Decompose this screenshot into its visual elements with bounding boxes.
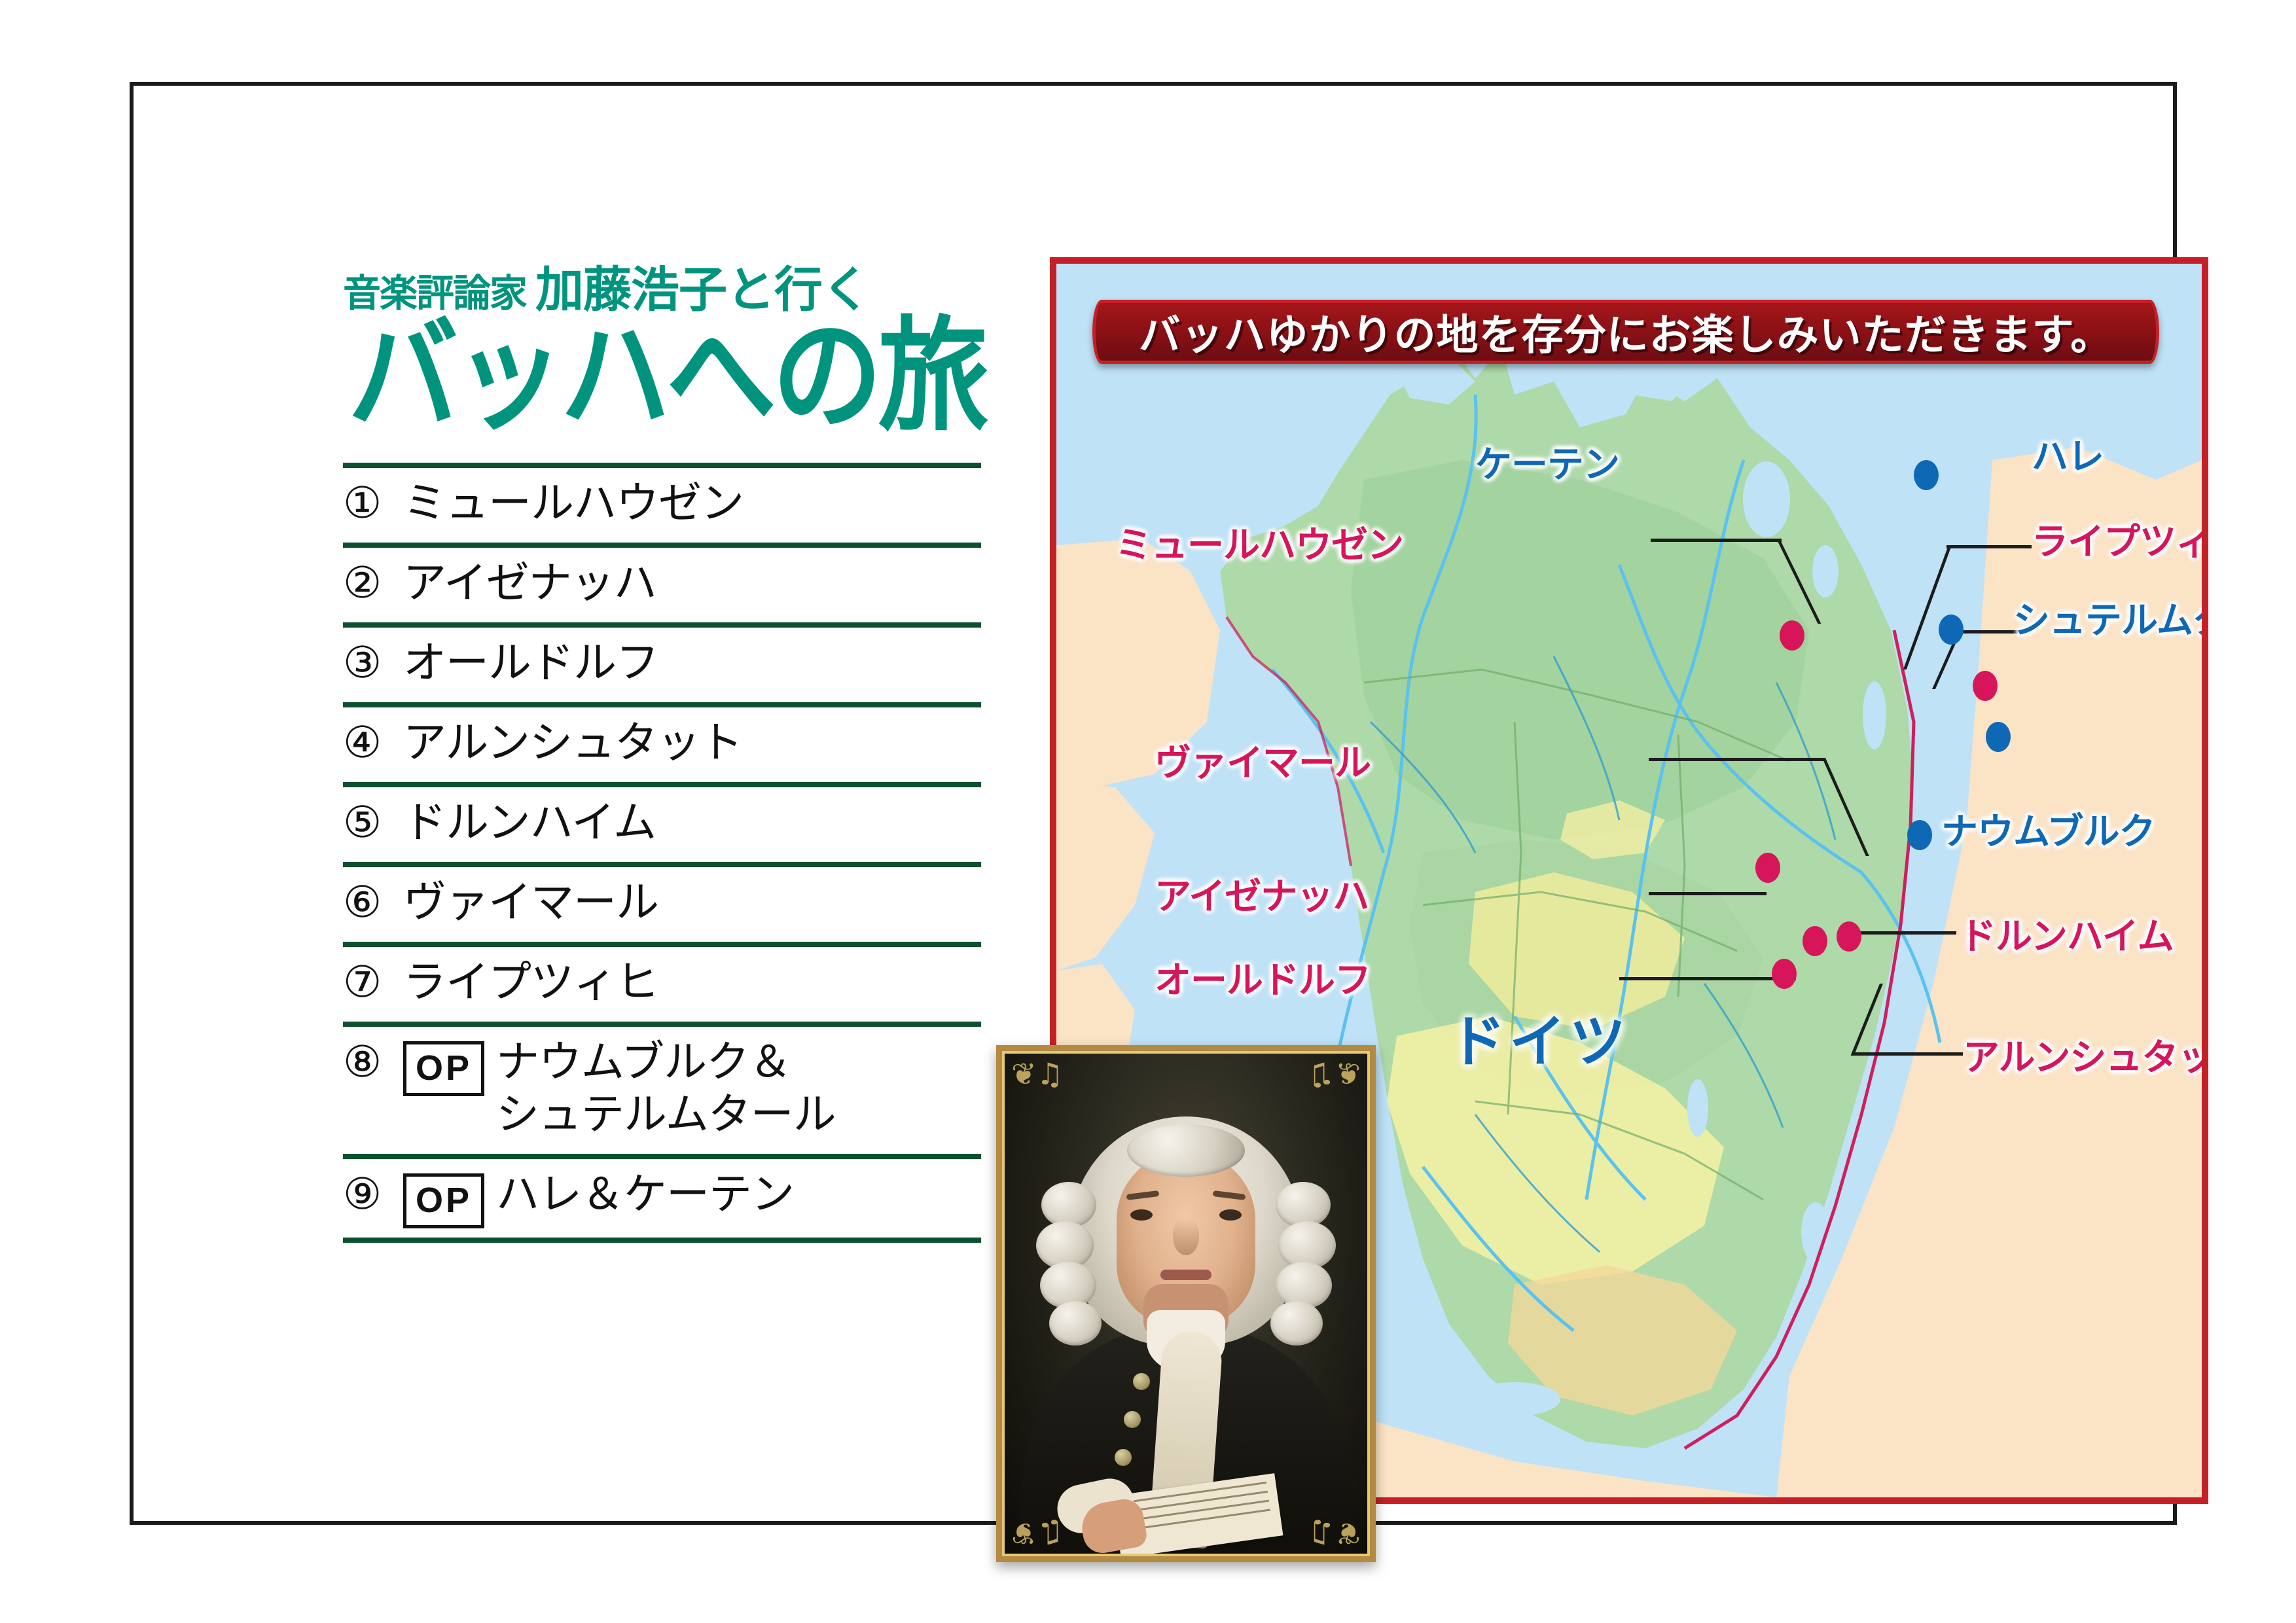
- itinerary-divider: [343, 1022, 981, 1027]
- itinerary-item-9[interactable]: ⑨OPハレ＆ケーテン: [343, 1159, 981, 1238]
- bach-eye-right: [1219, 1209, 1242, 1221]
- map-label-halle: ハレ: [2032, 427, 2104, 480]
- itinerary-item-number: ⑨: [343, 1168, 403, 1221]
- itinerary-item-label: オールドルフ: [403, 637, 658, 688]
- itinerary-item-label: ヴァイマール: [403, 876, 658, 928]
- optional-tour-badge: OP: [403, 1041, 484, 1096]
- city-dot-weimar[interactable]: [1755, 853, 1780, 883]
- city-dot-dornheim[interactable]: [1837, 921, 1861, 952]
- itinerary-list: ①ミュールハウゼン②アイゼナッハ③オールドルフ④アルンシュタット⑤ドルンハイム⑥…: [343, 463, 981, 1243]
- leader-line-ohrdruf-h: [1619, 977, 1796, 980]
- map-label-ohrdruf: オールドルフ: [1155, 951, 1371, 1004]
- itinerary-item-number: ③: [343, 637, 403, 690]
- itinerary-item-5[interactable]: ⑤ドルンハイム: [343, 787, 981, 862]
- page-border-frame: 音楽評論家加藤浩子と行く バッハへの旅 ①ミュールハウゼン②アイゼナッハ③オール…: [130, 82, 2177, 1525]
- coat-button-1: [1133, 1373, 1150, 1390]
- itinerary-divider: [343, 942, 981, 947]
- bach-painting: [1005, 1054, 1367, 1554]
- itinerary-item-number: ⑧: [343, 1036, 403, 1089]
- map-label-leipzig: ライプツィヒ: [2032, 512, 2208, 565]
- coat-button-2: [1124, 1411, 1141, 1428]
- score-staff-line: [1126, 1509, 1270, 1531]
- itinerary-item-number: ②: [343, 557, 403, 610]
- itinerary-item-number: ④: [343, 717, 403, 770]
- leader-line-arnstadt-h: [1852, 1052, 1963, 1056]
- map-banner-text: バッハゆかりの地を存分にお楽しみいただきます。: [1139, 302, 2113, 362]
- wig-curl-left-4: [1049, 1301, 1102, 1346]
- itinerary-divider: [343, 622, 981, 628]
- city-dot-leipzig[interactable]: [1973, 671, 1998, 701]
- itinerary-item-number: ⑥: [343, 876, 403, 929]
- itinerary-item-1[interactable]: ①ミュールハウゼン: [343, 468, 981, 543]
- city-dot-kothen[interactable]: [1914, 460, 1939, 490]
- map-label-weimar: ヴァイマール: [1155, 734, 1371, 787]
- corner-flourish-icon: ❦♫: [1290, 1491, 1361, 1548]
- itinerary-item-label: ハレ＆ケーテン: [496, 1168, 794, 1220]
- portrait-inner-frame: ❦♫ ❦♫ ❦♫ ❦♫: [1002, 1051, 1370, 1556]
- itinerary-item-8[interactable]: ⑧OPナウムブルク＆ シュテルムタール: [343, 1027, 981, 1154]
- city-dot-muhlhausen[interactable]: [1780, 620, 1804, 651]
- city-dot-naumburg[interactable]: [1907, 820, 1932, 850]
- corner-flourish-icon: ❦♫: [1011, 1059, 1082, 1116]
- bach-portrait: ❦♫ ❦♫ ❦♫ ❦♫: [996, 1045, 1376, 1562]
- leader-line-halle-h: [1946, 545, 2032, 548]
- leader-line-weimar-h: [1649, 758, 1825, 761]
- itinerary-item-6[interactable]: ⑥ヴァイマール: [343, 867, 981, 942]
- page-title: バッハへの旅: [348, 313, 997, 438]
- wig-top-roll: [1127, 1124, 1245, 1177]
- itinerary-item-label: アイゼナッハ: [403, 557, 656, 609]
- leader-line-eisenach-h: [1649, 892, 1767, 895]
- itinerary-divider: [343, 702, 981, 707]
- itinerary-divider: [343, 1154, 981, 1159]
- map-label-eisenach: アイゼナッハ: [1155, 867, 1369, 920]
- map-label-stormthal: シュテルムタール: [2013, 591, 2208, 644]
- map-label-dornheim: ドルンハイム: [1960, 907, 2174, 960]
- leader-line-muhlhausen-h: [1651, 539, 1782, 542]
- city-dot-ohrdruf[interactable]: [1772, 959, 1797, 989]
- title-block: 音楽評論家加藤浩子と行く バッハへの旅: [343, 266, 997, 425]
- itinerary-divider: [343, 543, 981, 548]
- itinerary-item-number: ①: [343, 477, 403, 530]
- itinerary-divider: [343, 782, 981, 787]
- itinerary-item-2[interactable]: ②アイゼナッハ: [343, 548, 981, 622]
- map-banner: バッハゆかりの地を存分にお楽しみいただきます。: [1092, 300, 2159, 364]
- itinerary-item-label: アルンシュタット: [403, 717, 742, 768]
- itinerary-item-label: ミュールハウゼン: [403, 477, 744, 529]
- bach-eye-left: [1130, 1209, 1153, 1221]
- itinerary-item-number: ⑦: [343, 956, 403, 1009]
- itinerary-item-label: ライプツィヒ: [403, 956, 658, 1008]
- itinerary-divider: [343, 862, 981, 867]
- map-label-naumburg: ナウムブルク: [1941, 802, 2155, 855]
- map-label-arnstadt: アルンシュタット: [1963, 1028, 2208, 1081]
- optional-tour-badge: OP: [403, 1173, 484, 1228]
- bach-nose: [1173, 1219, 1199, 1255]
- left-column: 音楽評論家加藤浩子と行く バッハへの旅 ①ミュールハウゼン②アイゼナッハ③オール…: [343, 266, 997, 1243]
- itinerary-item-number: ⑤: [343, 796, 403, 849]
- city-dot-stormthal[interactable]: [1986, 722, 2011, 752]
- itinerary-item-3[interactable]: ③オールドルフ: [343, 628, 981, 702]
- leader-line-dornheim-h: [1845, 931, 1956, 935]
- itinerary-item-label: ナウムブルク＆ シュテルムタール: [496, 1036, 836, 1139]
- itinerary-divider: [343, 1238, 981, 1243]
- corner-flourish-icon: ❦♫: [1290, 1059, 1361, 1116]
- city-dot-halle[interactable]: [1939, 615, 1964, 645]
- map-label-kothen: ケーテン: [1475, 435, 1619, 488]
- bach-mouth: [1160, 1270, 1211, 1280]
- itinerary-item-7[interactable]: ⑦ライプツィヒ: [343, 947, 981, 1022]
- itinerary-item-4[interactable]: ④アルンシュタット: [343, 707, 981, 782]
- wig-curl-right-4: [1270, 1301, 1323, 1346]
- itinerary-item-label: ドルンハイム: [403, 796, 656, 848]
- map-label-germany: ドイツ: [1449, 995, 1630, 1077]
- city-dot-arnstadt[interactable]: [1803, 926, 1827, 956]
- coat-button-3: [1115, 1449, 1132, 1466]
- map-label-muhlhausen: ミュールハウゼン: [1115, 516, 1403, 569]
- corner-flourish-icon: ❦♫: [1011, 1491, 1082, 1548]
- itinerary-divider: [343, 463, 981, 468]
